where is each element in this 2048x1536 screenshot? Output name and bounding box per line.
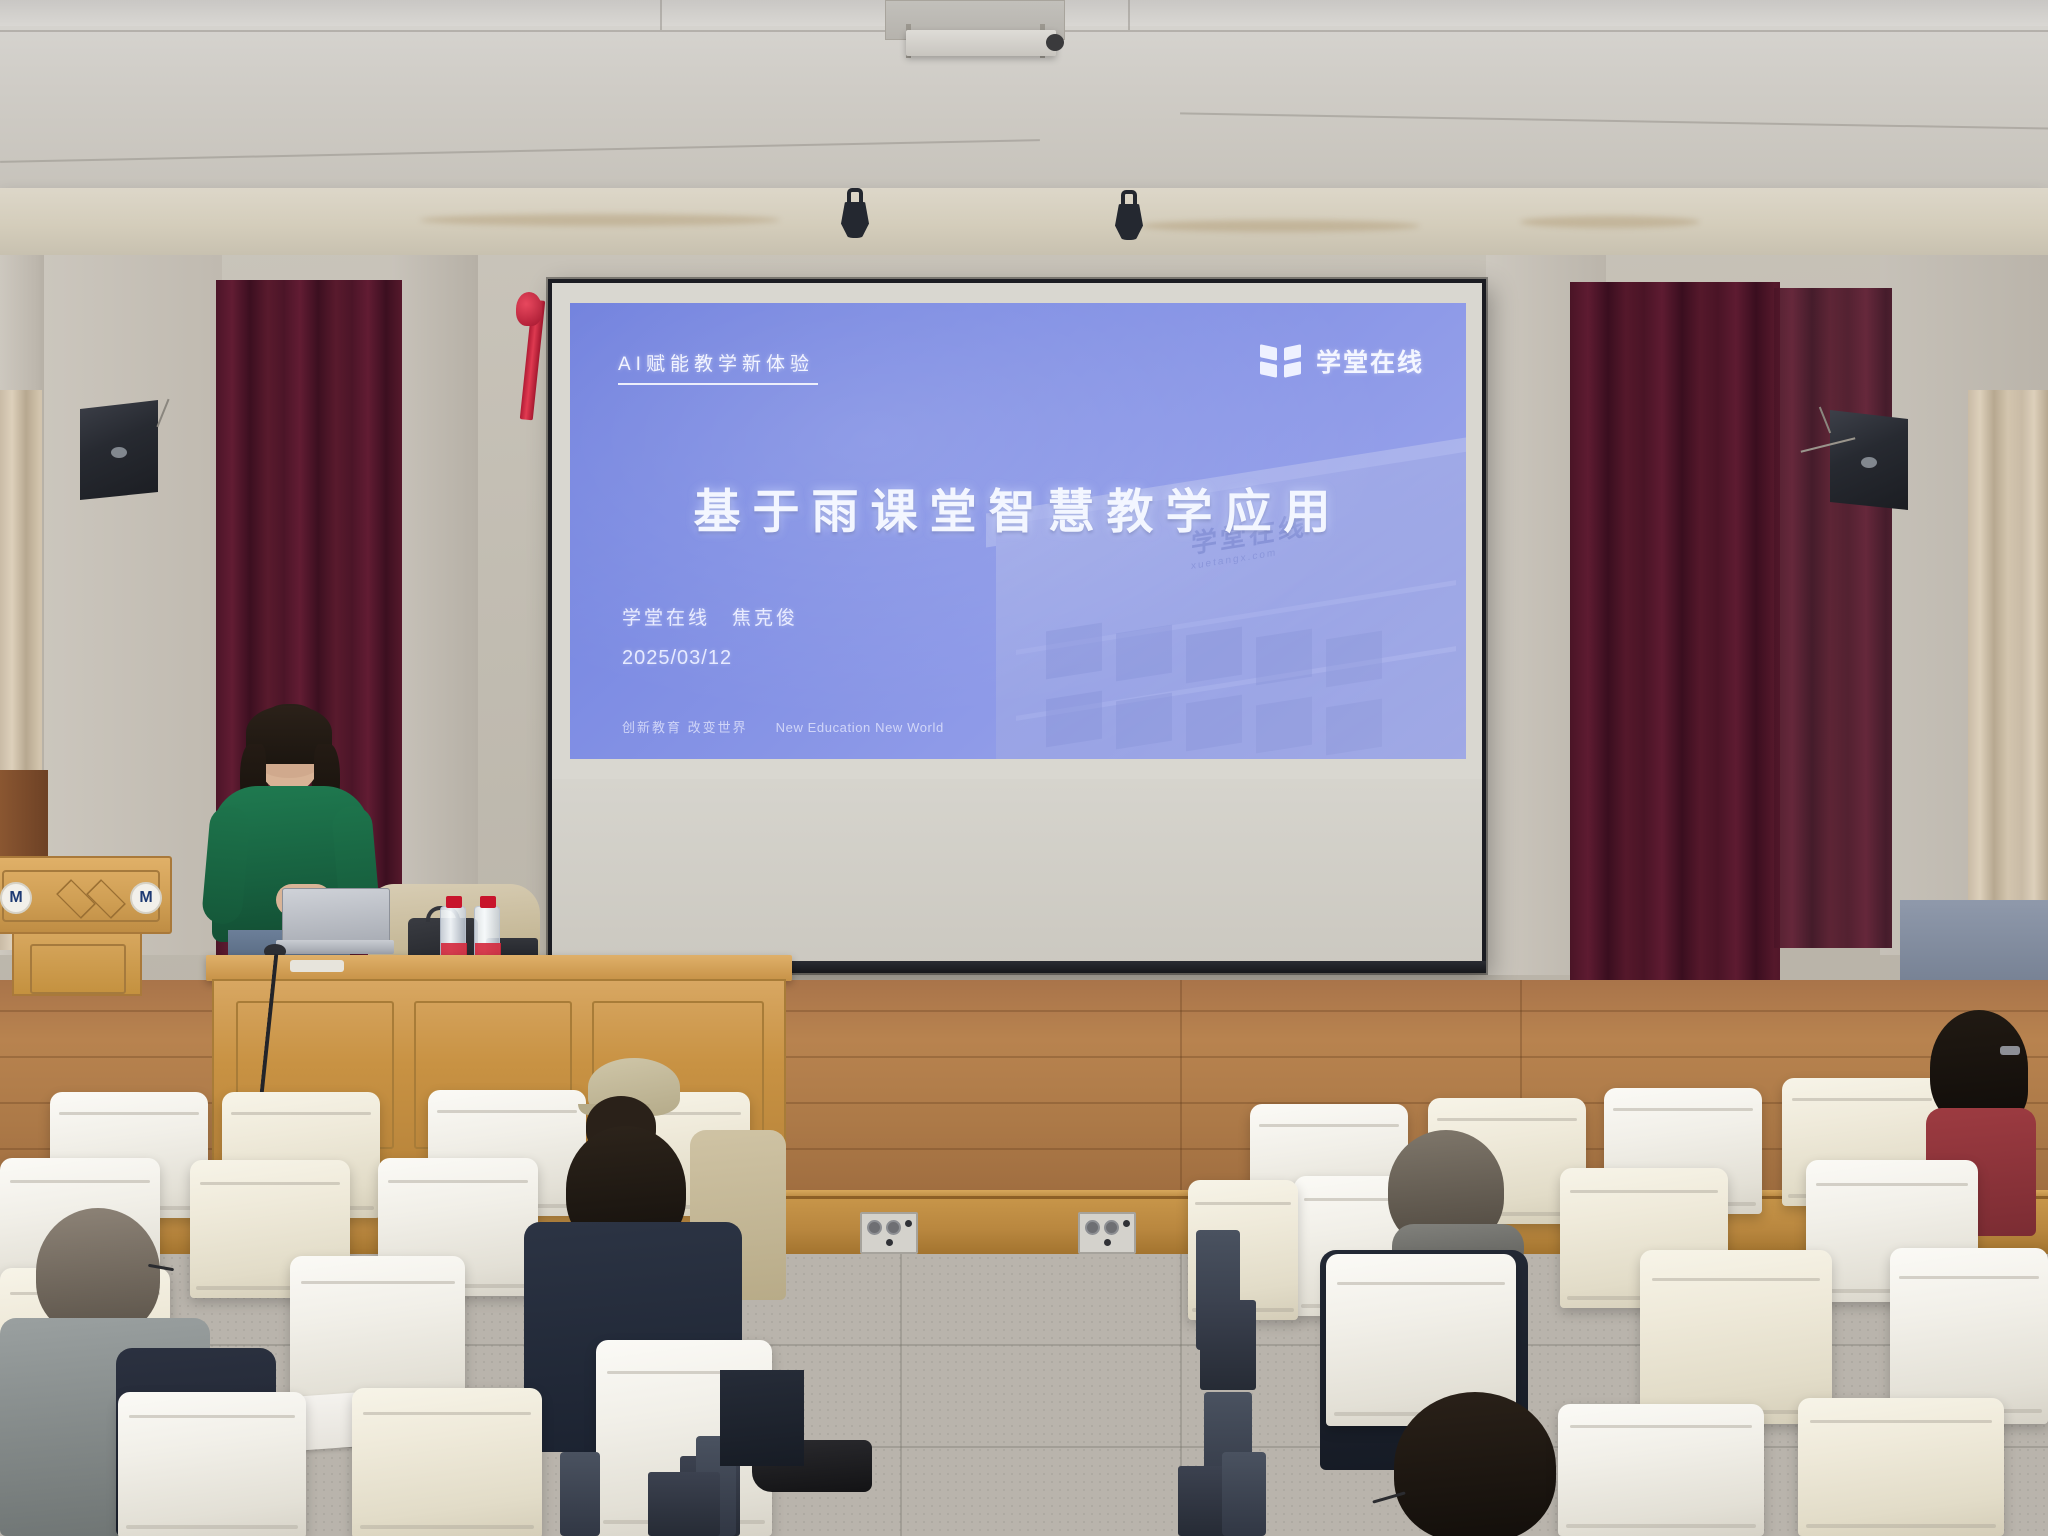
wall-column-stage-left [392,255,478,975]
stage-curtain-right-inner [1774,288,1892,948]
projection-screen: 学堂在线 xuetangx.com [548,279,1486,973]
speaker-right [1830,410,1908,510]
slide-eyebrow-text: AI赋能教学新体验 [618,349,818,376]
presentation-slide: 学堂在线 xuetangx.com [570,303,1466,759]
seat-side-panel [560,1452,600,1536]
seat[interactable] [1798,1398,2004,1536]
cable-adapter [290,960,344,972]
podium-emblem-left: M [0,882,32,914]
ceiling-projector [906,30,1056,56]
brand-logo: 学堂在线 [1260,343,1424,379]
attendee-right-front-head [1394,1392,1556,1536]
window-drape-right [1968,390,2048,930]
stage-outlet-right[interactable] [1078,1212,1136,1254]
beam-stain [420,214,780,226]
wall-column-left [44,255,222,955]
podium-emblem-right: M [130,882,162,914]
speaker-left [80,400,158,500]
attendee-leg [720,1370,804,1466]
seat[interactable] [118,1392,306,1536]
seat[interactable] [352,1388,542,1536]
podium-top: M M [0,856,172,934]
ceiling-line [660,0,662,30]
slide-presenter: 学堂在线 焦克俊 [622,603,798,630]
seat[interactable] [1558,1404,1764,1536]
slide-tagline: 创新教育 改变世界 New Education New World [622,717,944,736]
slide-date: 2025/03/12 [622,647,732,670]
spotlight-left [838,188,872,240]
brand-name: 学堂在线 [1316,343,1424,379]
lecture-hall-photo: 学堂在线 xuetangx.com [0,0,2048,1536]
slide-tagline-en: New Education New World [776,720,944,735]
seat-armrest [648,1472,720,1536]
seat[interactable] [1640,1250,1832,1424]
slide-tagline-cn: 创新教育 改变世界 [622,717,748,736]
spotlight-right [1112,190,1146,242]
hair-clip-icon [2000,1046,2020,1055]
red-ribbon-bow-left [516,292,542,326]
podium-post [0,770,48,870]
stage-curtain-right [1570,282,1780,982]
projector-lens-icon [1046,34,1064,51]
seat-armrest [1200,1300,1256,1390]
beam-stain [1140,220,1420,232]
beam-stain [1520,216,1700,228]
seat-side-panel [1222,1452,1266,1536]
wooden-podium[interactable]: M M [0,856,172,996]
projection-screen-surface: 学堂在线 xuetangx.com [552,283,1482,969]
screen-blank-area [552,779,1482,969]
ceiling-line [1128,0,1130,30]
slide-eyebrow-underline [618,383,818,385]
slide-title: 基于雨课堂智慧教学应用 [570,473,1466,542]
podium-panel [30,944,126,994]
laptop-screen [282,888,390,944]
slide-eyebrow: AI赋能教学新体验 [618,349,818,385]
attendee-front-left-head [36,1208,160,1336]
podium-body [12,932,142,996]
open-book-icon [1260,344,1304,378]
ceiling-beam [0,188,2048,260]
laptop-keyboard[interactable] [276,940,394,954]
stage-outlet-left[interactable] [860,1212,918,1254]
